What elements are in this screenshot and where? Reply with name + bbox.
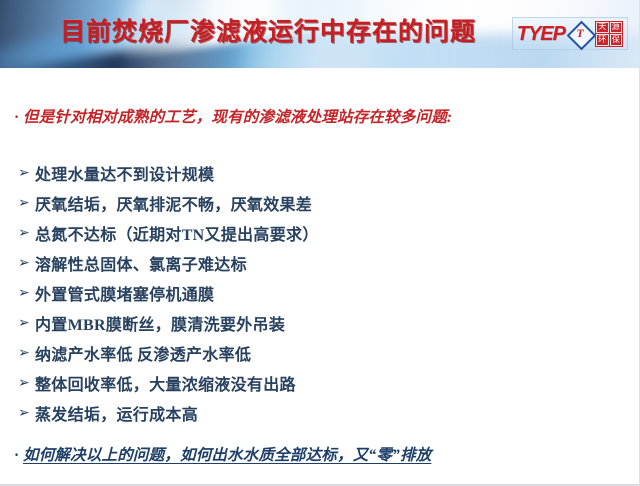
list-item-label: 处理水量达不到设计规模 bbox=[35, 161, 214, 185]
arrow-bullet-icon: ➢ bbox=[18, 195, 35, 211]
arrow-bullet-icon: ➢ bbox=[18, 225, 35, 241]
intro-bullet-icon: · bbox=[14, 109, 23, 127]
arrow-bullet-icon: ➢ bbox=[18, 315, 35, 331]
list-item: ➢ 厌氧结垢，厌氧排泥不畅，厌氧效果差 bbox=[18, 188, 618, 218]
closing-bullet-icon: · bbox=[14, 447, 23, 465]
slide-header-banner: 目前焚烧厂渗滤液运行中存在的问题 TYEP T 天 源 环 保 bbox=[0, 0, 640, 68]
arrow-bullet-icon: ➢ bbox=[18, 165, 35, 181]
closing-statement: ·如何解决以上的问题，如何出水水质全部达标，又“零”排放 bbox=[14, 443, 626, 465]
list-item-label: 外置管式膜堵塞停机通膜 bbox=[35, 281, 214, 305]
logo-cn-char-2: 源 bbox=[610, 22, 623, 34]
logo-diamond-letter: T bbox=[568, 22, 592, 46]
company-logo: TYEP T 天 源 环 保 bbox=[512, 17, 628, 50]
intro-statement-text: 但是针对相对成熟的工艺，现有的渗滤液处理站存在较多问题: bbox=[23, 109, 452, 126]
logo-cn-char-3: 环 bbox=[596, 34, 609, 46]
list-item: ➢ 纳滤产水率低 反渗透产水率低 bbox=[18, 338, 618, 368]
logo-diamond-icon: T bbox=[568, 22, 592, 46]
list-item-label: 厌氧结垢，厌氧排泥不畅，厌氧效果差 bbox=[35, 191, 312, 215]
problem-list: ➢ 处理水量达不到设计规模 ➢ 厌氧结垢，厌氧排泥不畅，厌氧效果差 ➢ 总氮不达… bbox=[18, 158, 618, 428]
slide-body: ·但是针对相对成熟的工艺，现有的渗滤液处理站存在较多问题: ➢ 处理水量达不到设… bbox=[0, 68, 640, 486]
list-item-label: 纳滤产水率低 反渗透产水率低 bbox=[35, 341, 251, 365]
page-title: 目前焚烧厂渗滤液运行中存在的问题 bbox=[60, 15, 500, 51]
arrow-bullet-icon: ➢ bbox=[18, 255, 35, 271]
list-item-label: 总氮不达标（近期对TN又提出高要求） bbox=[35, 221, 319, 245]
list-item: ➢ 蒸发结垢，运行成本高 bbox=[18, 398, 618, 428]
list-item-label: 内置MBR膜断丝，膜清洗要外吊装 bbox=[35, 311, 285, 335]
list-item: ➢ 外置管式膜堵塞停机通膜 bbox=[18, 278, 618, 308]
closing-statement-text: 如何解决以上的问题，如何出水水质全部达标，又“零”排放 bbox=[23, 447, 431, 464]
list-item-label: 溶解性总固体、氯离子难达标 bbox=[35, 251, 247, 275]
list-item: ➢ 总氮不达标（近期对TN又提出高要求） bbox=[18, 218, 618, 248]
list-item-label: 整体回收率低，大量浓缩液没有出路 bbox=[35, 371, 296, 395]
arrow-bullet-icon: ➢ bbox=[18, 345, 35, 361]
logo-cn-char-1: 天 bbox=[596, 22, 609, 34]
slide-canvas: 目前焚烧厂渗滤液运行中存在的问题 TYEP T 天 源 环 保 ·但是针对相对成… bbox=[0, 0, 640, 486]
list-item: ➢ 溶解性总固体、氯离子难达标 bbox=[18, 248, 618, 278]
list-item: ➢ 处理水量达不到设计规模 bbox=[18, 158, 618, 188]
arrow-bullet-icon: ➢ bbox=[18, 285, 35, 301]
list-item: ➢ 整体回收率低，大量浓缩液没有出路 bbox=[18, 368, 618, 398]
intro-statement: ·但是针对相对成熟的工艺，现有的渗滤液处理站存在较多问题: bbox=[14, 105, 624, 127]
logo-cn-char-4: 保 bbox=[610, 34, 623, 46]
list-item-label: 蒸发结垢，运行成本高 bbox=[35, 401, 198, 425]
list-item: ➢ 内置MBR膜断丝，膜清洗要外吊装 bbox=[18, 308, 618, 338]
arrow-bullet-icon: ➢ bbox=[18, 405, 35, 421]
logo-chinese-block: 天 源 环 保 bbox=[595, 21, 623, 47]
arrow-bullet-icon: ➢ bbox=[18, 375, 35, 391]
logo-wordmark: TYEP bbox=[517, 24, 565, 44]
